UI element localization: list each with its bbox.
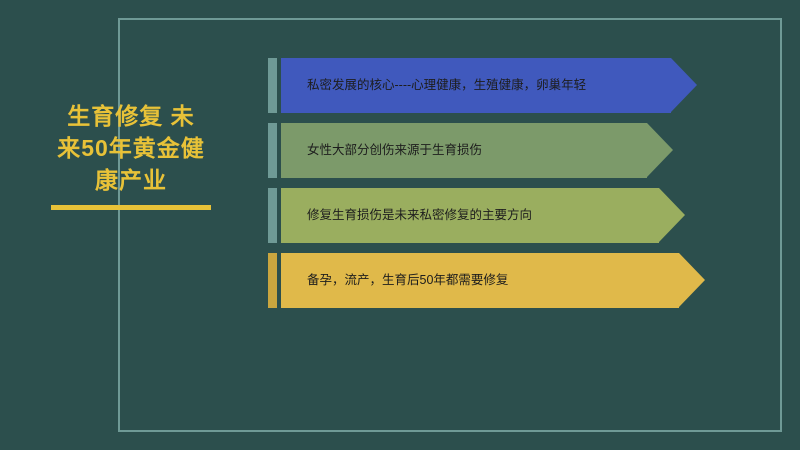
bar-arrow-2 — [647, 123, 673, 177]
bar-label-1: 私密发展的核心----心理健康，生殖健康，卵巢年轻 — [281, 58, 671, 113]
arrow-bar-list: 私密发展的核心----心理健康，生殖健康，卵巢年轻 女性大部分创伤来源于生育损伤… — [268, 58, 698, 318]
bar-arrow-3 — [659, 188, 685, 242]
frame-bottom-border — [118, 430, 782, 432]
bar-cap-1 — [268, 58, 277, 113]
slide-title-line-1: 生育修复 未 — [22, 100, 240, 132]
slide-title-line-2: 来50年黄金健 — [22, 132, 240, 164]
bar-arrow-1 — [671, 58, 697, 112]
bar-label-3: 修复生育损伤是未来私密修复的主要方向 — [281, 188, 659, 243]
bar-cap-4 — [268, 253, 277, 308]
title-underline-rule — [51, 205, 211, 210]
list-item: 女性大部分创伤来源于生育损伤 — [268, 123, 698, 178]
bar-cap-3 — [268, 188, 277, 243]
slide-title: 生育修复 未 来50年黄金健 康产业 — [22, 100, 240, 210]
bar-label-4: 备孕，流产，生育后50年都需要修复 — [281, 253, 679, 308]
list-item: 备孕，流产，生育后50年都需要修复 — [268, 253, 698, 308]
frame-top-border — [118, 18, 782, 20]
frame-right-border — [780, 18, 782, 432]
slide-title-line-3: 康产业 — [22, 164, 240, 196]
bar-arrow-4 — [679, 253, 705, 307]
bar-cap-2 — [268, 123, 277, 178]
list-item: 修复生育损伤是未来私密修复的主要方向 — [268, 188, 698, 243]
frame-left-border — [118, 18, 120, 432]
list-item: 私密发展的核心----心理健康，生殖健康，卵巢年轻 — [268, 58, 698, 113]
slide-canvas: 生育修复 未 来50年黄金健 康产业 私密发展的核心----心理健康，生殖健康，… — [0, 0, 800, 450]
bar-label-2: 女性大部分创伤来源于生育损伤 — [281, 123, 647, 178]
